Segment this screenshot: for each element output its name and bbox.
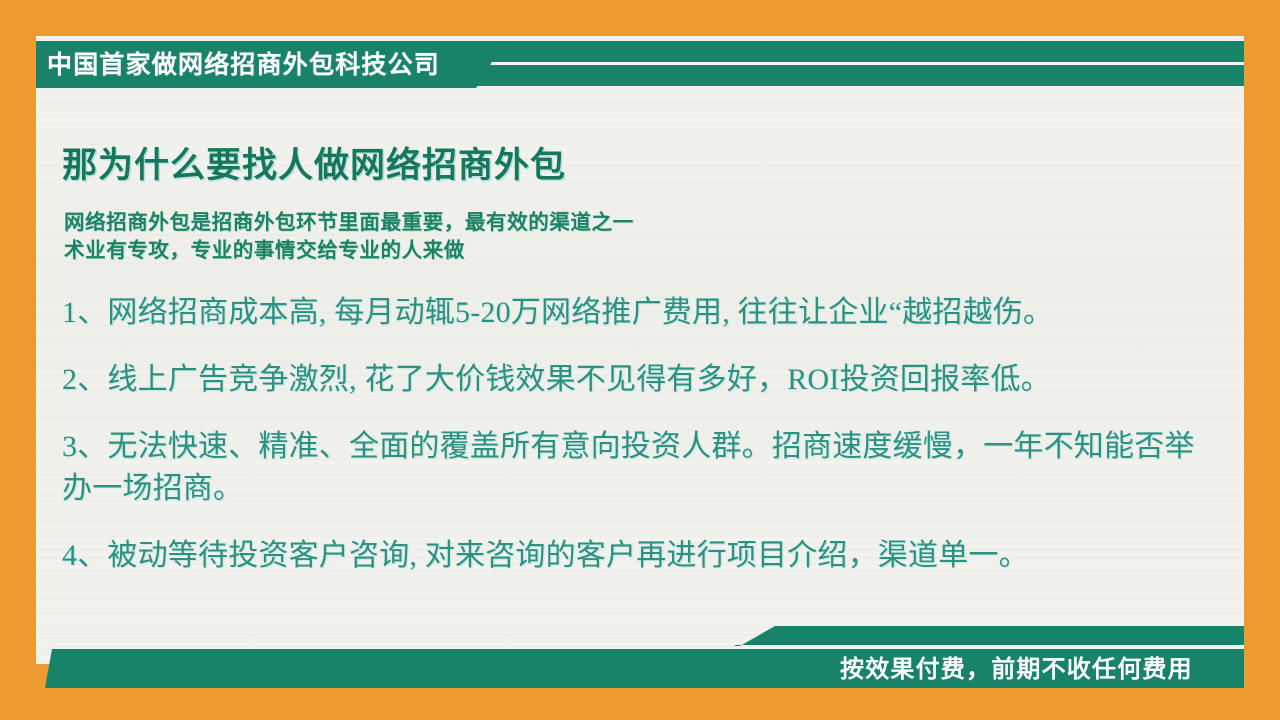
page-title: 那为什么要找人做网络招商外包 bbox=[62, 137, 566, 188]
list-item: 3、无法快速、精准、全面的覆盖所有意向投资人群。招商速度缓慢，一年不知能否举办一… bbox=[62, 426, 1202, 510]
list-item: 1、网络招商成本高, 每月动辄5-20万网络推广费用, 往往让企业“越招越伤。 bbox=[62, 292, 1202, 334]
list-item: 2、线上广告竞争激烈, 花了大价钱效果不见得有多好，ROI投资回报率低。 bbox=[62, 359, 1202, 401]
list-item: 4、被动等待投资客户咨询, 对来咨询的客户再进行项目介绍，渠道单一。 bbox=[62, 535, 1202, 577]
footer-tagline: 按效果付费，前期不收任何费用 bbox=[840, 645, 1244, 687]
subtitle-line-1: 网络招商外包是招商外包环节里面最重要，最有效的渠道之一 bbox=[64, 209, 1064, 237]
reason-list: 1、网络招商成本高, 每月动辄5-20万网络推广费用, 往往让企业“越招越伤。 … bbox=[62, 292, 1202, 577]
subtitle-block: 网络招商外包是招商外包环节里面最重要，最有效的渠道之一 术业有专攻，专业的事情交… bbox=[64, 209, 1064, 265]
subtitle-line-2: 术业有专攻，专业的事情交给专业的人来做 bbox=[64, 237, 1064, 265]
slide-root: 中国首家做网络招商外包科技公司 那为什么要找人做网络招商外包 网络招商外包是招商… bbox=[0, 0, 1280, 720]
slide-content: 那为什么要找人做网络招商外包 网络招商外包是招商外包环节里面最重要，最有效的渠道… bbox=[0, 0, 1280, 720]
